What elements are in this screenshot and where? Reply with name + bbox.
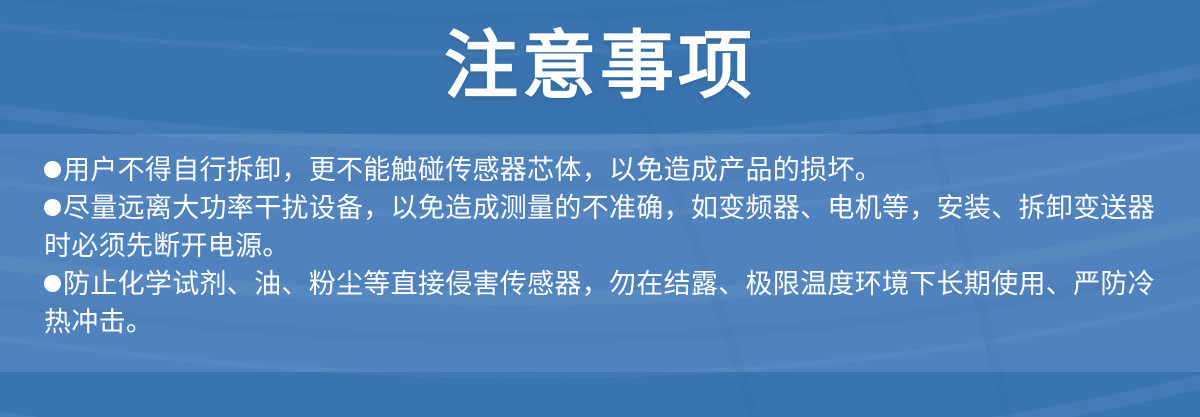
page-title: 注意事项: [444, 29, 756, 105]
header: 注意事项: [0, 0, 1200, 134]
footer-band: [0, 372, 1200, 417]
bullet-icon: [44, 161, 61, 178]
notice-banner: 注意事项 用户不得自行拆卸，更不能触碰传感器芯体，以免造成产品的损坏。 尽量远离…: [0, 0, 1200, 417]
list-item: 用户不得自行拆卸，更不能触碰传感器芯体，以免造成产品的损坏。: [44, 152, 1169, 190]
list-item-text: 防止化学试剂、油、粉尘等直接侵害传感器，勿在结露、极限温度环境下长期使用、严防冷…: [44, 269, 1155, 338]
bullet-icon: [44, 275, 61, 292]
list-item: 尽量远离大功率干扰设备，以免造成测量的不准确，如变频器、电机等，安装、拆卸变送器…: [44, 190, 1169, 266]
list-item: 防止化学试剂、油、粉尘等直接侵害传感器，勿在结露、极限温度环境下长期使用、严防冷…: [44, 266, 1169, 342]
notes-list: 用户不得自行拆卸，更不能触碰传感器芯体，以免造成产品的损坏。 尽量远离大功率干扰…: [44, 152, 1169, 342]
list-item-text: 用户不得自行拆卸，更不能触碰传感器芯体，以免造成产品的损坏。: [63, 155, 882, 186]
bullet-icon: [44, 199, 61, 216]
list-item-text: 尽量远离大功率干扰设备，以免造成测量的不准确，如变频器、电机等，安装、拆卸变送器…: [44, 193, 1155, 262]
